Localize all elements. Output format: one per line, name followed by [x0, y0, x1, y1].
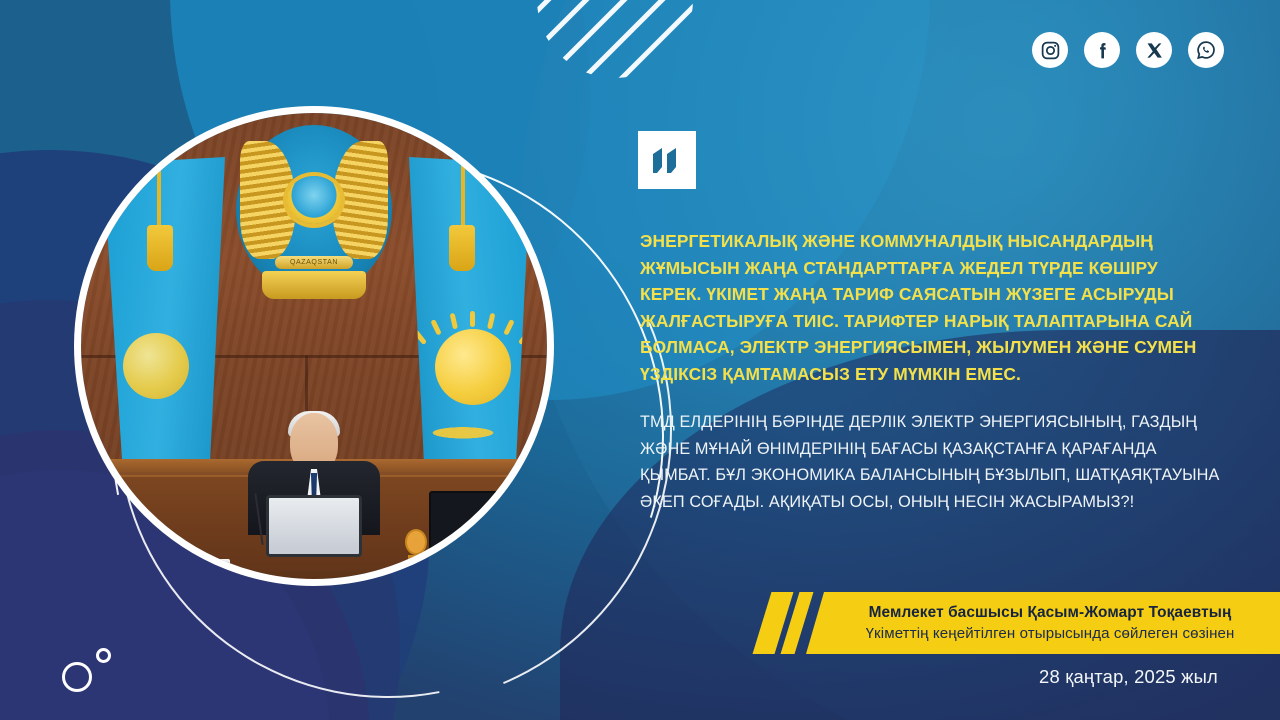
- x-twitter-icon[interactable]: [1136, 32, 1172, 68]
- facebook-icon[interactable]: [1084, 32, 1120, 68]
- photo-ring-border: [74, 106, 554, 586]
- attribution-subtitle: Үкіметтің кеңейтілген отырысында сөйлеге…: [866, 625, 1235, 642]
- date-label: 28 қаңтар, 2025 жыл: [1039, 666, 1218, 688]
- quote-block: ЭНЕРГЕТИКАЛЫҚ ЖӘНЕ КОММУНАЛДЫҚ НЫСАНДАРД…: [640, 228, 1222, 515]
- instagram-icon[interactable]: [1032, 32, 1068, 68]
- decorative-circle-small: [96, 648, 111, 663]
- quote-highlight-text: ЭНЕРГЕТИКАЛЫҚ ЖӘНЕ КОММУНАЛДЫҚ НЫСАНДАРД…: [640, 228, 1222, 387]
- diagonal-stripes-decoration: [520, 0, 710, 80]
- whatsapp-icon[interactable]: [1188, 32, 1224, 68]
- quote-body-text: ТМД ЕЛДЕРІНІҢ БӘРІНДЕ ДЕРЛІК ЭЛЕКТР ЭНЕР…: [640, 409, 1222, 515]
- social-links: [1032, 32, 1224, 68]
- portrait-photo-circle: QAZAQSTAN: [74, 106, 554, 586]
- quotation-mark-icon: [638, 131, 696, 189]
- attribution-title: Мемлекет басшысы Қасым-Жомарт Тоқаевтың: [869, 604, 1232, 622]
- poster-stage: QAZAQSTAN: [0, 0, 1280, 720]
- banner-body: Мемлекет басшысы Қасым-Жомарт Тоқаевтың …: [806, 592, 1280, 654]
- attribution-banner: Мемлекет басшысы Қасым-Жомарт Тоқаевтың …: [762, 592, 1280, 654]
- water-glass: [135, 525, 157, 553]
- water-bottle: [115, 501, 128, 551]
- decorative-circle-large: [62, 662, 92, 692]
